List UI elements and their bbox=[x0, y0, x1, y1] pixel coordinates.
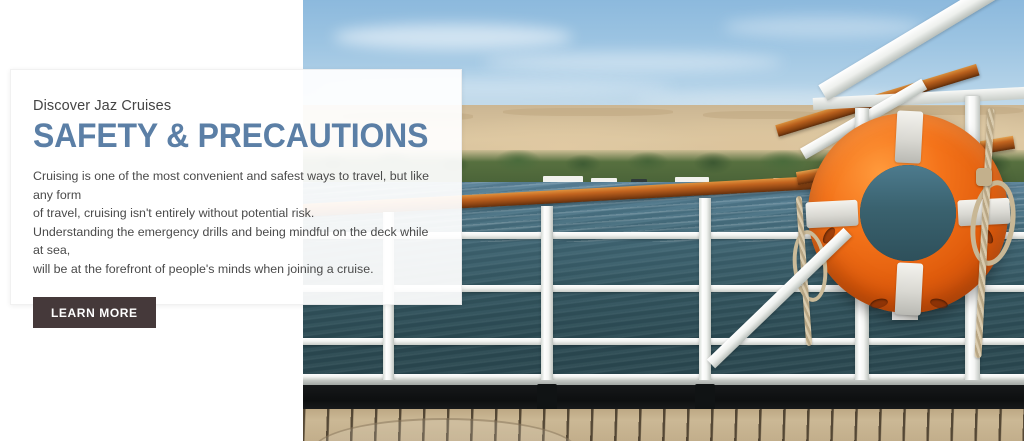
eyebrow-label: Discover Jaz Cruises bbox=[33, 98, 437, 115]
railing-bar bbox=[303, 338, 1024, 345]
body-copy: Cruising is one of the most convenient a… bbox=[33, 167, 437, 279]
learn-more-button[interactable]: LEARN MORE bbox=[33, 297, 156, 328]
reflective-band bbox=[895, 110, 924, 163]
water-through-ring bbox=[860, 165, 956, 261]
post-base bbox=[695, 384, 715, 410]
railing-post bbox=[541, 206, 553, 392]
page-title: SAFETY & PRECAUTIONS bbox=[33, 119, 413, 155]
reflective-band bbox=[895, 262, 924, 315]
cloud bbox=[333, 24, 573, 50]
post-base bbox=[537, 384, 557, 410]
cloud bbox=[483, 52, 783, 72]
cloud bbox=[723, 16, 923, 38]
reflective-band bbox=[805, 200, 858, 229]
body-line: will be at the forefront of people's min… bbox=[33, 260, 437, 279]
body-line: Cruising is one of the most convenient a… bbox=[33, 167, 437, 204]
rope-knot bbox=[976, 168, 992, 186]
body-line: Understanding the emergency drills and b… bbox=[33, 223, 437, 260]
body-line: of travel, cruising isn't entirely witho… bbox=[33, 204, 437, 223]
dune-ridge bbox=[503, 108, 673, 116]
promo-text-card: Discover Jaz Cruises SAFETY & PRECAUTION… bbox=[10, 69, 462, 305]
hull-base-band bbox=[303, 385, 1024, 411]
hero-banner: Discover Jaz Cruises SAFETY & PRECAUTION… bbox=[0, 0, 1024, 441]
life-ring-hole bbox=[860, 165, 956, 261]
